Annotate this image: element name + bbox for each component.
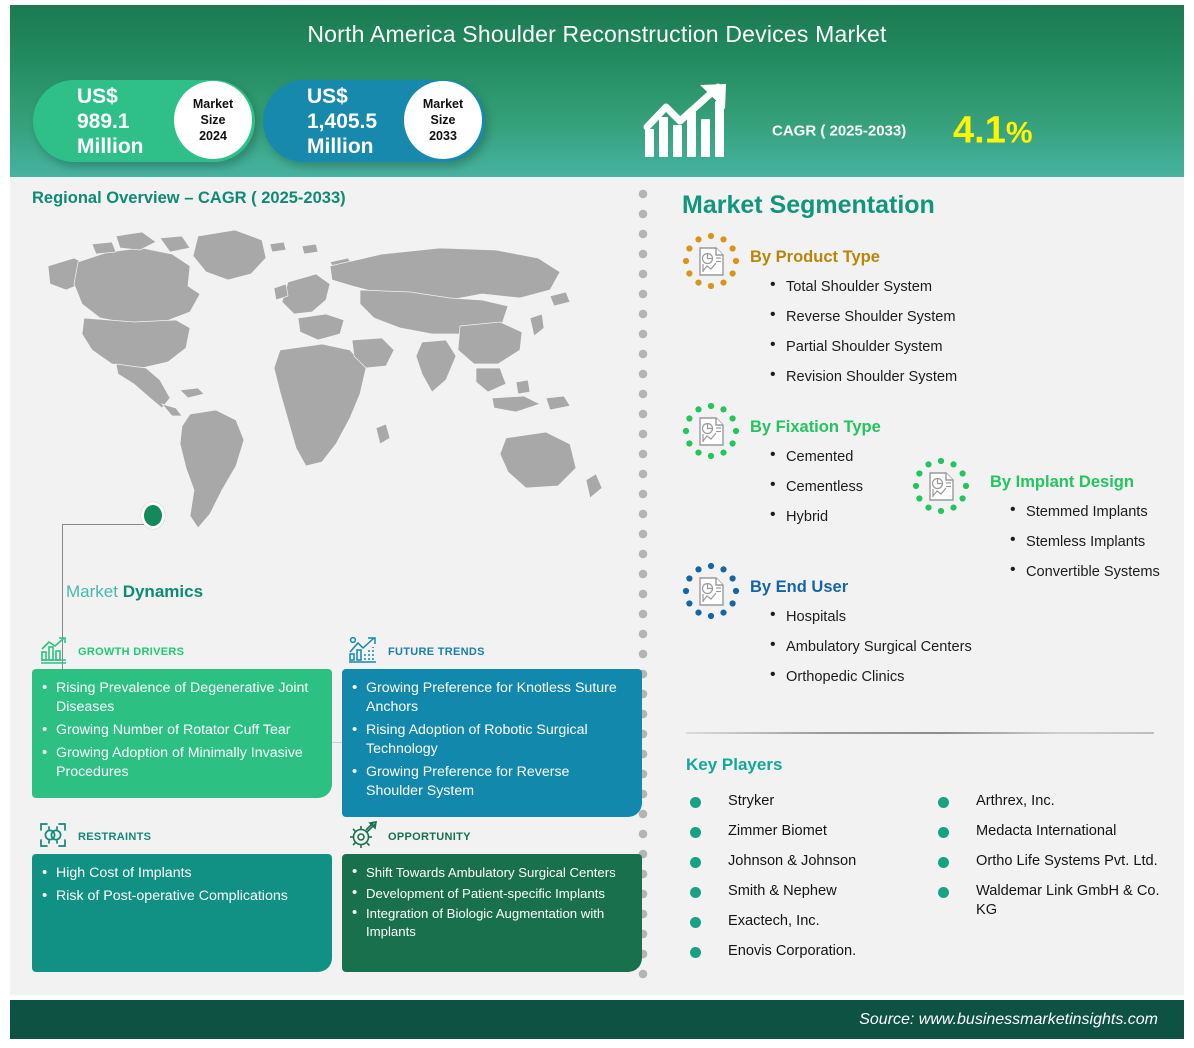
list-item: Integration of Biologic Augmentation wit… bbox=[350, 905, 630, 940]
list-item: Ortho Life Systems Pvt. Ltd. bbox=[934, 852, 1164, 871]
growth-drivers-label: GROWTH DRIVERS bbox=[78, 646, 184, 658]
future-trends-label: FUTURE TRENDS bbox=[388, 646, 485, 658]
restraints-label: RESTRAINTS bbox=[78, 831, 151, 843]
list-item: Orthopedic Clinics bbox=[768, 668, 998, 686]
list-item: Exactech, Inc. bbox=[686, 912, 926, 931]
segment-heading-end-user: By End User bbox=[750, 578, 848, 597]
segment-list-implant-design: Stemmed Implants Stemless Implants Conve… bbox=[1008, 503, 1194, 593]
value-2033: 1,405.5 bbox=[307, 110, 377, 133]
opportunity-header: OPPORTUNITY bbox=[342, 820, 642, 854]
list-item: Revision Shoulder System bbox=[768, 368, 998, 386]
segment-heading-fixation-type: By Fixation Type bbox=[750, 418, 881, 437]
opportunity-list: Shift Towards Ambulatory Surgical Center… bbox=[350, 864, 630, 940]
dynamics-title-bold: Dynamics bbox=[123, 582, 203, 601]
list-item: Waldemar Link GmbH & Co. KG bbox=[934, 882, 1164, 920]
list-item: Smith & Nephew bbox=[686, 882, 926, 901]
list-item: Growing Preference for Knotless Suture A… bbox=[350, 679, 630, 717]
market-size-2024-pill: US$ 989.1 Million Market Size 2024 bbox=[33, 80, 255, 162]
report-document-icon bbox=[682, 402, 740, 460]
dynamics-cell-growth-drivers: GROWTH DRIVERS Rising Prevalence of Dege… bbox=[32, 635, 332, 798]
segment-list-product-type: Total Shoulder System Reverse Shoulder S… bbox=[768, 278, 998, 398]
list-item: Zimmer Biomet bbox=[686, 822, 926, 841]
body-area: Regional Overview – CAGR ( 2025-2033) bbox=[10, 177, 1184, 995]
market-size-2033-pill: US$ 1,405.5 Million Market Size 2033 bbox=[263, 80, 485, 162]
future-trends-box: Growing Preference for Knotless Suture A… bbox=[342, 669, 642, 817]
key-players-title: Key Players bbox=[686, 755, 782, 775]
list-item: Partial Shoulder System bbox=[768, 338, 998, 356]
growth-drivers-list: Rising Prevalence of Degenerative Joint … bbox=[40, 679, 320, 782]
regional-overview-title: Regional Overview – CAGR ( 2025-2033) bbox=[32, 189, 346, 208]
dynamics-cell-restraints: RESTRAINTS High Cost of Implants Risk of… bbox=[32, 820, 332, 972]
callout-leader-horizontal bbox=[62, 524, 144, 525]
location-pin-icon bbox=[141, 502, 165, 529]
list-item: Stemless Implants bbox=[1008, 533, 1194, 551]
list-item: Arthrex, Inc. bbox=[934, 792, 1164, 811]
cagr-percent-sign: % bbox=[1006, 117, 1033, 150]
list-item: Reverse Shoulder System bbox=[768, 308, 998, 326]
dynamics-cell-future-trends: FUTURE TRENDS Growing Preference for Kno… bbox=[342, 635, 642, 817]
cagr-number: 4.1 bbox=[953, 110, 1006, 152]
gear-target-icon bbox=[348, 821, 378, 854]
unit-2024: Million bbox=[77, 135, 144, 158]
list-item: Convertible Systems bbox=[1008, 563, 1194, 581]
chain-link-restraint-icon bbox=[38, 821, 68, 854]
value-2024: 989.1 bbox=[77, 110, 130, 133]
source-text: Source: www.businessmarketinsights.com bbox=[859, 1011, 1158, 1029]
list-item: Growing Number of Rotator Cuff Tear bbox=[40, 721, 320, 740]
badge-line-3: 2024 bbox=[199, 128, 227, 144]
market-dynamics-title: Market Dynamics bbox=[66, 582, 203, 602]
list-item: Hospitals bbox=[768, 608, 998, 626]
list-item: Growing Adoption of Minimally Invasive P… bbox=[40, 744, 320, 782]
list-item: Enovis Corporation. bbox=[686, 942, 926, 961]
segment-heading-implant-design: By Implant Design bbox=[990, 473, 1134, 492]
unit-2033: Million bbox=[307, 135, 374, 158]
list-item: High Cost of Implants bbox=[40, 864, 320, 883]
segment-list-end-user: Hospitals Ambulatory Surgical Centers Or… bbox=[768, 608, 998, 698]
list-item: Total Shoulder System bbox=[768, 278, 998, 296]
list-item: Rising Adoption of Robotic Surgical Tech… bbox=[350, 721, 630, 759]
dynamics-cell-opportunity: OPPORTUNITY Shift Towards Ambulatory Sur… bbox=[342, 820, 642, 972]
cagr-value: 4.1% bbox=[953, 110, 1033, 153]
opportunity-box: Shift Towards Ambulatory Surgical Center… bbox=[342, 854, 642, 972]
market-size-2024-badge: Market Size 2024 bbox=[174, 81, 252, 159]
market-size-2033-badge: Market Size 2033 bbox=[404, 81, 482, 159]
list-item: Growing Preference for Reverse Shoulder … bbox=[350, 763, 630, 801]
dynamics-title-light: Market bbox=[66, 582, 118, 601]
currency-2024: US$ bbox=[77, 85, 118, 108]
badge-line-3: 2033 bbox=[429, 128, 457, 144]
key-players-column-left: Stryker Zimmer Biomet Johnson & Johnson … bbox=[686, 792, 926, 972]
badge-line-1: Market bbox=[193, 96, 233, 112]
trend-forecast-icon bbox=[348, 636, 378, 669]
list-item: Johnson & Johnson bbox=[686, 852, 926, 871]
list-item: Medacta International bbox=[934, 822, 1164, 841]
market-size-2033-text: US$ 1,405.5 Million bbox=[263, 84, 377, 159]
segment-heading-product-type: By Product Type bbox=[750, 248, 880, 267]
list-item: Stemmed Implants bbox=[1008, 503, 1194, 521]
report-document-icon bbox=[682, 232, 740, 290]
badge-line-2: Size bbox=[430, 112, 455, 128]
list-item: Stryker bbox=[686, 792, 926, 811]
growth-drivers-box: Rising Prevalence of Degenerative Joint … bbox=[32, 669, 332, 798]
header-banner: North America Shoulder Reconstruction De… bbox=[10, 5, 1184, 177]
restraints-box: High Cost of Implants Risk of Post-opera… bbox=[32, 854, 332, 972]
future-trends-header: FUTURE TRENDS bbox=[342, 635, 642, 669]
report-document-icon bbox=[912, 457, 970, 515]
currency-2033: US$ bbox=[307, 85, 348, 108]
cagr-label: CAGR ( 2025-2033) bbox=[772, 123, 906, 140]
list-item: Ambulatory Surgical Centers bbox=[768, 638, 998, 656]
page-title: North America Shoulder Reconstruction De… bbox=[10, 21, 1184, 48]
world-map bbox=[30, 222, 630, 542]
list-item: Shift Towards Ambulatory Surgical Center… bbox=[350, 864, 630, 882]
list-item: Risk of Post-operative Complications bbox=[40, 887, 320, 906]
badge-line-2: Size bbox=[200, 112, 225, 128]
growth-drivers-header: GROWTH DRIVERS bbox=[32, 635, 332, 669]
list-item: Development of Patient-specific Implants bbox=[350, 885, 630, 903]
market-segmentation-title: Market Segmentation bbox=[682, 191, 935, 220]
key-players-column-right: Arthrex, Inc. Medacta International Orth… bbox=[934, 792, 1164, 931]
restraints-list: High Cost of Implants Risk of Post-opera… bbox=[40, 864, 320, 906]
key-players-divider bbox=[686, 732, 1154, 734]
bar-chart-arrow-up-icon bbox=[642, 83, 734, 164]
future-trends-list: Growing Preference for Knotless Suture A… bbox=[350, 679, 630, 801]
badge-line-1: Market bbox=[423, 96, 463, 112]
restraints-header: RESTRAINTS bbox=[32, 820, 332, 854]
opportunity-label: OPPORTUNITY bbox=[388, 831, 471, 843]
infographic-page: North America Shoulder Reconstruction De… bbox=[0, 0, 1194, 1048]
market-size-2024-text: US$ 989.1 Million bbox=[33, 84, 144, 159]
growth-chart-icon bbox=[38, 636, 68, 669]
list-item: Rising Prevalence of Degenerative Joint … bbox=[40, 679, 320, 717]
report-document-icon bbox=[682, 562, 740, 620]
footer-bar: Source: www.businessmarketinsights.com bbox=[10, 1000, 1184, 1039]
